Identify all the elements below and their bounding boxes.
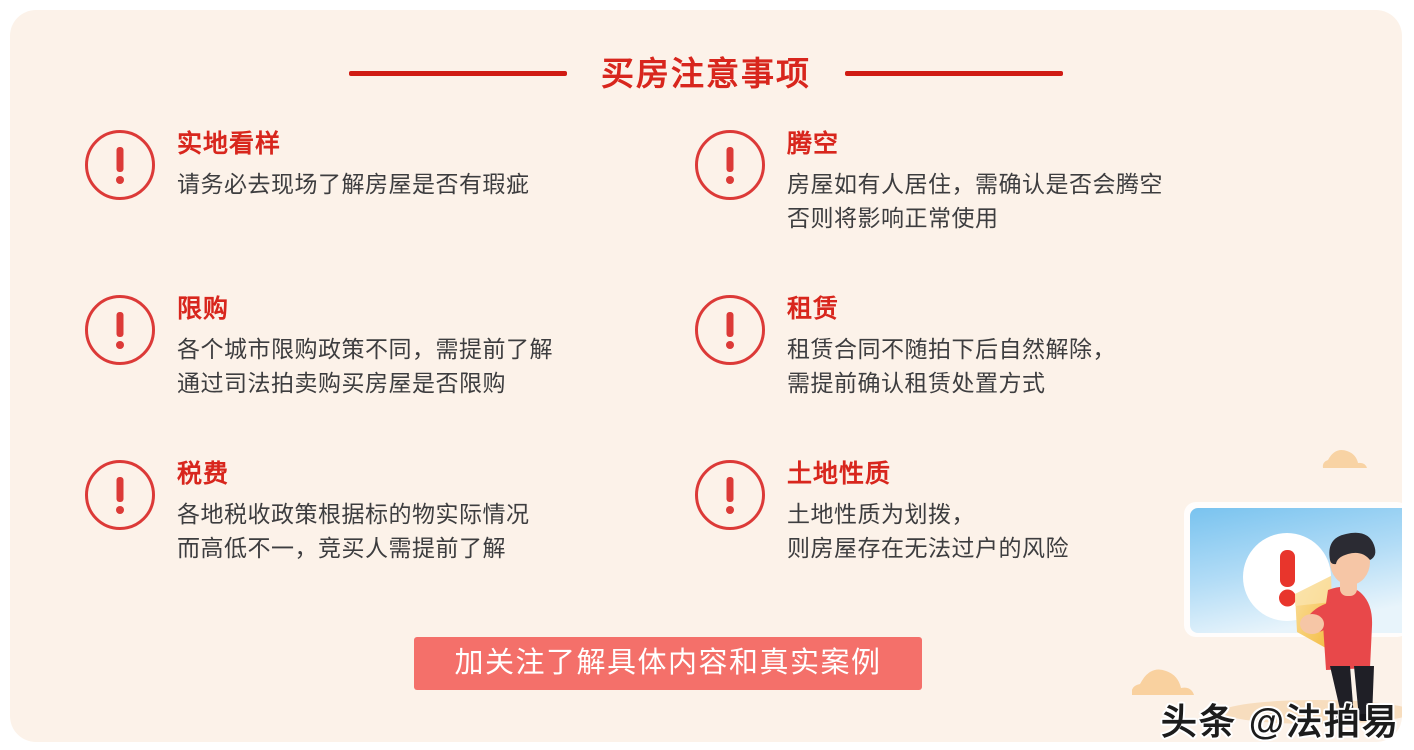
follow-cta-label: 加关注了解具体内容和真实案例 [454,649,881,678]
title-rule-left [349,71,567,76]
tip-body: 税费 各地税收政策根据标的物实际情况 而高低不一，竞买人需提前了解 [177,458,530,566]
tip-title: 土地性质 [787,460,1069,490]
tip-desc-line: 房屋如有人居住，需确认是否会腾空 [787,167,1163,202]
title-rule-right [845,71,1063,76]
page-title: 买房注意事项 [601,57,811,90]
tip-body: 限购 各个城市限购政策不同，需提前了解 通过司法拍卖购买房屋是否限购 [177,293,553,401]
poster-card: 买房注意事项 实地看样 请务必去现场了解房屋是否有瑕疵 [10,10,1402,742]
tip-desc-line: 各个城市限购政策不同，需提前了解 [177,332,553,367]
tip-title: 限购 [177,295,553,325]
tip-desc-line: 租赁合同不随拍下后自然解除， [787,332,1116,367]
tip-desc-line: 需提前确认租赁处置方式 [787,366,1116,401]
tip-desc-line: 请务必去现场了解房屋是否有瑕疵 [177,167,530,202]
tip-title: 租赁 [787,295,1116,325]
exclamation-dot [116,506,124,514]
exclamation-dot [116,341,124,349]
exclamation-bar [117,147,124,172]
tip-desc-line: 否则将影响正常使用 [787,201,1163,236]
tip-body: 实地看样 请务必去现场了解房屋是否有瑕疵 [177,128,530,201]
tips-grid: 实地看样 请务必去现场了解房屋是否有瑕疵 腾空 房屋如有人居住，需确认是否会腾空… [10,128,1402,623]
tip-desc-line: 则房屋存在无法过户的风险 [787,531,1069,566]
tip-body: 土地性质 土地性质为划拨， 则房屋存在无法过户的风险 [787,458,1069,566]
tip-item-tengkong: 腾空 房屋如有人居住，需确认是否会腾空 否则将影响正常使用 [695,128,1305,293]
tip-item-shuifei: 税费 各地税收政策根据标的物实际情况 而高低不一，竞买人需提前了解 [85,458,695,623]
tip-body: 租赁 租赁合同不随拍下后自然解除， 需提前确认租赁处置方式 [787,293,1116,401]
exclamation-circle-icon [85,460,155,530]
follow-cta-banner[interactable]: 加关注了解具体内容和真实案例 [414,637,922,690]
tip-desc-line: 而高低不一，竞买人需提前了解 [177,531,530,566]
tip-desc-line: 土地性质为划拨， [787,497,1069,532]
exclamation-bar [727,147,734,172]
tip-desc-line: 通过司法拍卖购买房屋是否限购 [177,366,553,401]
tip-item-xiangou: 限购 各个城市限购政策不同，需提前了解 通过司法拍卖购买房屋是否限购 [85,293,695,458]
exclamation-bar [727,477,734,502]
exclamation-circle-icon [695,130,765,200]
exclamation-circle-icon [85,130,155,200]
tip-item-zulin: 租赁 租赁合同不随拍下后自然解除， 需提前确认租赁处置方式 [695,293,1305,458]
tip-desc-line: 各地税收政策根据标的物实际情况 [177,497,530,532]
tip-title: 实地看样 [177,130,530,160]
exclamation-dot [726,341,734,349]
tip-item-shidikanyang: 实地看样 请务必去现场了解房屋是否有瑕疵 [85,128,695,293]
cloud-shape-bottom [1132,670,1194,695]
exclamation-circle-icon [695,460,765,530]
exclamation-dot [726,506,734,514]
tip-title: 腾空 [787,130,1163,160]
exclamation-bar [117,312,124,337]
poster-root: 买房注意事项 实地看样 请务必去现场了解房屋是否有瑕疵 [0,0,1414,750]
exclamation-circle-icon [85,295,155,365]
exclamation-circle-icon [695,295,765,365]
exclamation-bar [117,477,124,502]
exclamation-dot [726,176,734,184]
title-row: 买房注意事项 [10,57,1402,90]
tip-title: 税费 [177,460,530,490]
tip-item-tudixingzhi: 土地性质 土地性质为划拨， 则房屋存在无法过户的风险 [695,458,1305,623]
tip-body: 腾空 房屋如有人居住，需确认是否会腾空 否则将影响正常使用 [787,128,1163,236]
watermark: 头条 @法拍易 [1161,699,1400,744]
exclamation-dot [116,176,124,184]
exclamation-bar [727,312,734,337]
